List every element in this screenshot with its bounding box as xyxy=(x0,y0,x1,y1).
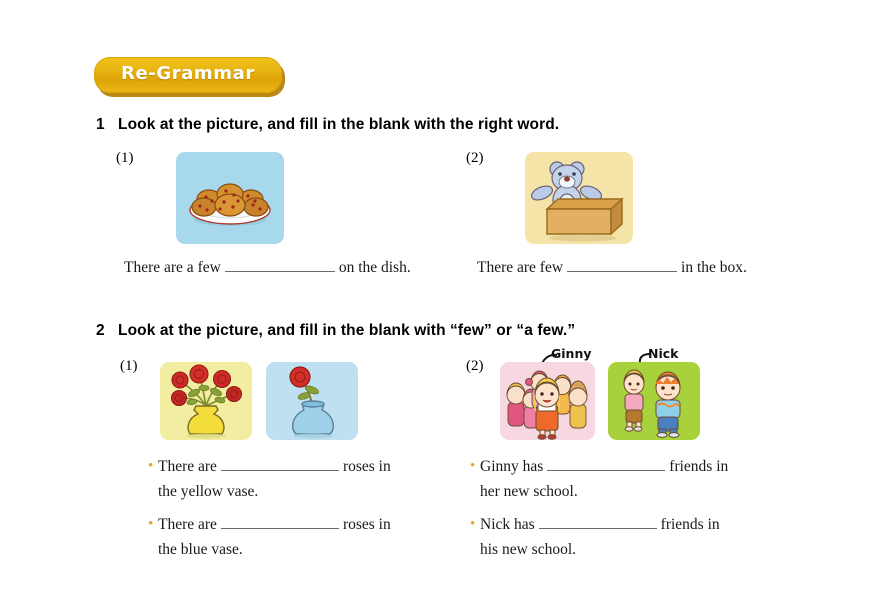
q2-item-2-line-2: • Nick hasfriends in his new school. xyxy=(470,512,720,562)
teddy-bear-in-box-picture xyxy=(525,152,633,244)
q1-s2-after: in the box. xyxy=(681,259,747,276)
nick-with-friend-picture xyxy=(608,362,700,440)
q2-item-1-line-1: • There areroses in the yellow vase. xyxy=(148,454,391,504)
q1-s2-blank[interactable] xyxy=(567,256,677,272)
q2-l2-before: There are xyxy=(158,516,217,533)
q2-l1-before: There are xyxy=(158,458,217,475)
q2-r1-after: friends in xyxy=(669,458,728,475)
q2-item-1-label: (1) xyxy=(120,358,138,375)
cookies-on-dish-picture xyxy=(176,152,284,244)
q1-item-1-label: (1) xyxy=(116,150,134,167)
bullet-icon: • xyxy=(148,512,153,537)
q2-l2-blank[interactable] xyxy=(221,513,339,529)
q2-r2-second: his new school. xyxy=(470,537,720,562)
bullet-icon: • xyxy=(470,454,475,479)
q2-l1-after: roses in xyxy=(343,458,391,475)
q2-r1-second: her new school. xyxy=(470,479,728,504)
banner-label: Re-Grammar xyxy=(121,63,255,84)
question-1-heading: 1 Look at the picture, and fill in the b… xyxy=(96,116,559,134)
question-2-number: 2 xyxy=(96,322,118,340)
q2-item-2-label: (2) xyxy=(466,358,484,375)
q1-item-2-sentence: There are fewin the box. xyxy=(477,256,747,280)
q1-item-2-label: (2) xyxy=(466,150,484,167)
bullet-icon: • xyxy=(470,512,475,537)
q1-s1-after: on the dish. xyxy=(339,259,411,276)
q2-r1-before: Ginny has xyxy=(480,458,543,475)
q2-item-2-line-1: • Ginny hasfriends in her new school. xyxy=(470,454,728,504)
q2-r2-after: friends in xyxy=(661,516,720,533)
q1-s1-before: There are a few xyxy=(124,259,221,276)
q1-s1-blank[interactable] xyxy=(225,256,335,272)
q2-r2-blank[interactable] xyxy=(539,513,657,529)
blue-vase-one-rose-picture xyxy=(266,362,358,440)
q2-r2-before: Nick has xyxy=(480,516,535,533)
q2-l1-second: the yellow vase. xyxy=(148,479,391,504)
bullet-icon: • xyxy=(148,454,153,479)
q2-l1-blank[interactable] xyxy=(221,455,339,471)
banner-pill: Re-Grammar xyxy=(94,57,282,93)
question-2-heading: 2 Look at the picture, and fill in the b… xyxy=(96,322,575,340)
yellow-vase-many-roses-picture xyxy=(160,362,252,440)
q2-l2-after: roses in xyxy=(343,516,391,533)
question-1-number: 1 xyxy=(96,116,118,134)
question-1-text: Look at the picture, and fill in the bla… xyxy=(118,116,559,134)
re-grammar-banner: Re-Grammar xyxy=(94,57,282,93)
q2-r1-blank[interactable] xyxy=(547,455,665,471)
q1-item-1-sentence: There are a fewon the dish. xyxy=(124,256,411,280)
q1-s2-before: There are few xyxy=(477,259,563,276)
q2-l2-second: the blue vase. xyxy=(148,537,391,562)
ginny-with-friends-picture xyxy=(500,362,595,440)
question-2-text: Look at the picture, and fill in the bla… xyxy=(118,322,575,340)
q2-item-1-line-2: • There areroses in the blue vase. xyxy=(148,512,391,562)
